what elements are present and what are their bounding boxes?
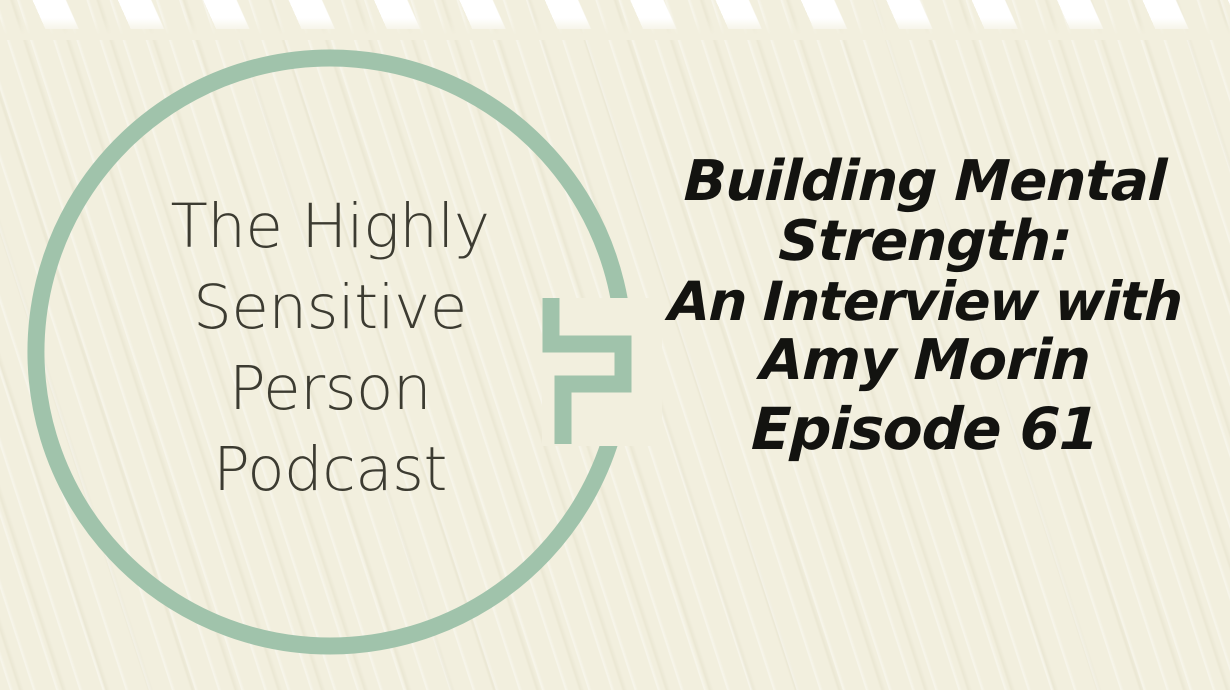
episode-title-line-1: Building Mental: [644, 152, 1206, 212]
podcast-name: The Highly Sensitive Person Podcast: [56, 186, 604, 511]
podcast-name-line-4: Podcast: [56, 429, 604, 510]
podcast-name-line-1: The Highly: [56, 186, 604, 267]
podcast-name-line-2: Sensitive: [56, 267, 604, 348]
episode-guest-name: Amy Morin: [644, 331, 1206, 391]
episode-title-line-3: An Interview with: [644, 273, 1206, 331]
podcast-name-line-3: Person: [56, 348, 604, 429]
episode-title-line-2: Strength:: [644, 212, 1206, 272]
episode-title: Building Mental Strength: An Interview w…: [645, 152, 1205, 460]
episode-number-label: Episode 61: [644, 398, 1206, 461]
podcast-cover-art: The Highly Sensitive Person Podcast Buil…: [0, 0, 1230, 690]
diagonal-stripe-band: [0, 0, 1230, 29]
